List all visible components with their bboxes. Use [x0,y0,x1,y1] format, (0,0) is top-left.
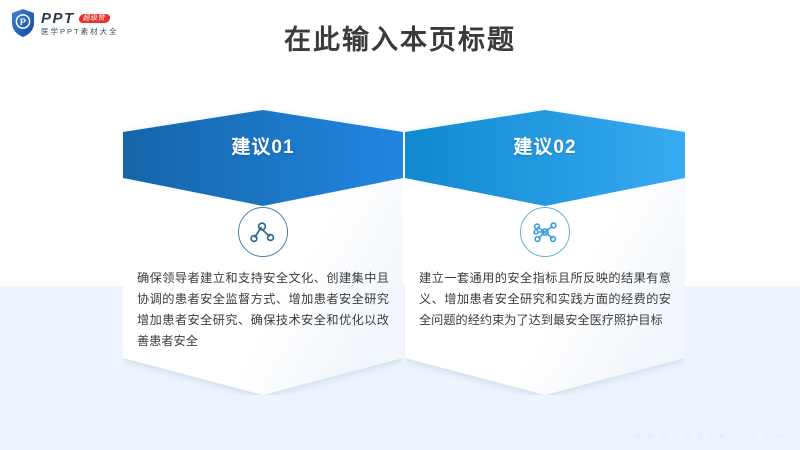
slide-canvas: P PPT 超级赞 医学PPT素材大全 在此输入本页标题 [0,0,800,450]
card-01[interactable]: 建议01 确保领导者建立和支持安全文化、创建集中且协调的患者安全监督方式、增加患… [123,110,403,395]
site-watermark: w w w . p p t e r . c o m [634,430,786,440]
card-01-body: 确保领导者建立和支持安全文化、创建集中且协调的患者安全监督方式、增加患者安全研究… [137,268,389,352]
card-02[interactable]: 建议02 建立一套通用的安全指标且所反映的结 [405,110,685,395]
network-hub-icon [519,206,571,258]
network-nodes-icon [237,206,289,258]
card-02-icon-wrapper [519,206,571,258]
page-title: 在此输入本页标题 [0,18,800,57]
card-02-body: 建立一套通用的安全指标且所反映的结果有意义、增加患者安全研究和实践方面的经费的安… [419,268,671,331]
card-01-heading: 建议01 [123,132,403,159]
card-02-heading: 建议02 [405,132,685,159]
card-01-icon-wrapper [237,206,289,258]
